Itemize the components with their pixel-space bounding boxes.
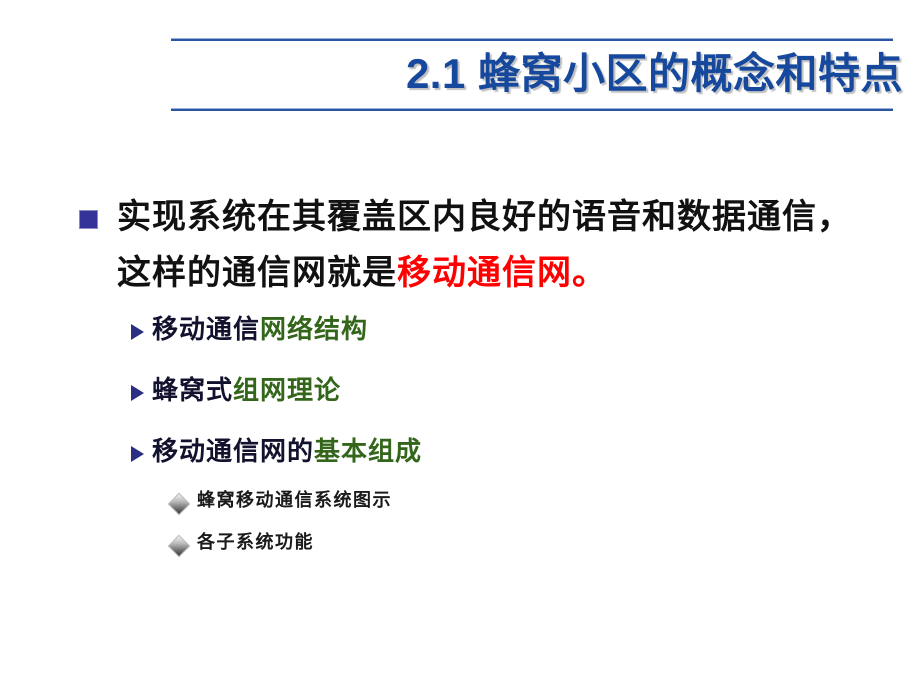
bullet-level2-seg-dark-3: 移动通信网的: [152, 437, 314, 466]
bullet-level2-label-2: 蜂窝式组网理论: [152, 371, 920, 411]
slide-title: 2.1 蜂窝小区的概念和特点: [161, 46, 903, 102]
bullet-level1-line-2: 这样的通信网就是移动通信网。: [117, 246, 920, 302]
diamond-bullet-icon: [169, 494, 189, 514]
bullet-level1-line2-text-highlight: 移动通信网。: [397, 255, 607, 292]
diamond-bullet-icon: [169, 536, 189, 556]
bullet-level3-label-2: 各子系统功能: [197, 527, 920, 557]
triangle-bullet-icon: [131, 446, 144, 462]
bullet-level2-seg-green-3: 基本组成: [314, 437, 422, 466]
square-bullet-icon: [80, 211, 97, 228]
bullet-level2-seg-green-2: 组网理论: [233, 376, 341, 405]
bullet-level2-seg-dark-1: 移动通信: [152, 315, 260, 344]
bullet-level3-item-2[interactable]: 各子系统功能: [0, 527, 920, 569]
bullet-level3-item-1[interactable]: 蜂窝移动通信系统图示: [0, 485, 920, 527]
slide-title-block: 2.1 蜂窝小区的概念和特点: [171, 38, 893, 114]
presentation-slide: 2.1 蜂窝小区的概念和特点 实现系统在其覆盖区内良好的语音和数据通信， 这样的…: [0, 0, 920, 690]
bullet-level2-item-2[interactable]: 蜂窝式组网理论: [0, 371, 920, 424]
bullet-level1-line1-text: 实现系统在其覆盖区内良好的语音和数据通信，: [117, 199, 852, 236]
bullet-level2-label-1: 移动通信网络结构: [152, 310, 920, 350]
bullet-level2-label-3: 移动通信网的基本组成: [152, 432, 920, 472]
bullet-level2-seg-dark-2: 蜂窝式: [152, 376, 233, 405]
bullet-level2-item-1[interactable]: 移动通信网络结构: [0, 310, 920, 363]
bullet-level1-line2-text-plain: 这样的通信网就是: [117, 255, 397, 292]
title-rule-bottom: [171, 108, 893, 111]
bullet-level3-label-1: 蜂窝移动通信系统图示: [197, 485, 920, 515]
bullet-level1-line-1: 实现系统在其覆盖区内良好的语音和数据通信，: [117, 190, 920, 246]
bullet-level2-item-3[interactable]: 移动通信网的基本组成: [0, 432, 920, 485]
triangle-bullet-icon: [131, 385, 144, 401]
slide-body: 实现系统在其覆盖区内良好的语音和数据通信， 这样的通信网就是移动通信网。 移动通…: [0, 190, 920, 569]
title-rule-top: [171, 38, 893, 41]
triangle-bullet-icon: [131, 324, 144, 340]
bullet-level1: 实现系统在其覆盖区内良好的语音和数据通信， 这样的通信网就是移动通信网。: [0, 190, 920, 302]
bullet-level2-seg-green-1: 网络结构: [260, 315, 368, 344]
